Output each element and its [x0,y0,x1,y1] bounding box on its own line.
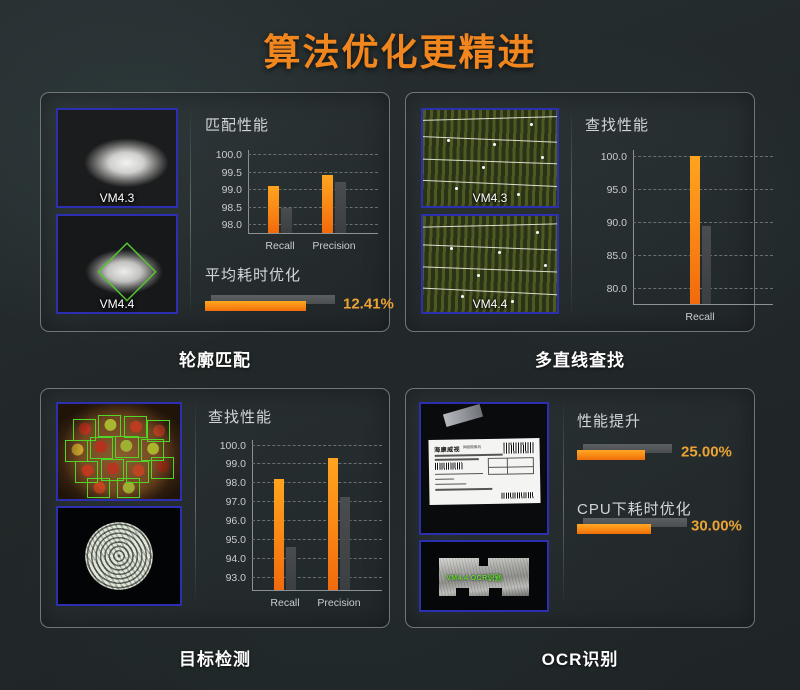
metric-label-cpu-time: CPU下耗时优化 [577,498,692,519]
gridline: 97.0 [252,501,382,502]
gridline: 100.0 [633,156,773,157]
y-tick-label: 97.0 [226,496,246,508]
column-divider [571,106,572,318]
y-axis [633,150,634,305]
y-tick-label: 94.0 [226,553,246,565]
caption-ocr-recognition: OCR识别 [405,645,755,670]
chart-title: 匹配性能 [205,114,269,135]
thumbnail-label: VM4.4 [423,297,557,311]
gridline: 93.0 [252,577,382,578]
thumbnail-vm44[interactable]: VM4.4 [56,506,182,606]
progress-fill [577,524,651,534]
gridline: 100.0 [252,445,382,446]
caption-multi-line-finding: 多直线查找 [405,346,755,371]
gridline: 99.0 [252,463,382,464]
metric-value-performance: 25.00% [681,444,732,461]
caption-contour-matching: 轮廓匹配 [40,346,390,371]
label-logo-text: 海康威视 [434,444,460,453]
progress-fill [577,450,645,460]
x-axis [252,590,382,591]
barcode-icon [434,462,463,470]
y-tick-label: 80.0 [607,283,627,295]
metal-bracket-image: VM4.4 OCR识别 [421,542,547,610]
metal-strip [443,404,483,427]
progress-avg-time [205,295,335,311]
x-tick-precision: Precision [317,597,360,609]
gridline: 95.0 [633,189,773,190]
y-tick-label: 100.0 [220,440,246,452]
metric-label-avg-time: 平均耗时优化 [205,264,301,285]
thumbnail-apples[interactable] [56,402,182,501]
progress-fill [205,301,306,311]
y-tick-label: 85.0 [607,250,627,262]
x-tick-recall: Recall [265,240,294,252]
bar-precision-old [340,497,350,590]
y-tick-label: 98.5 [222,202,242,214]
bar-recall-old [702,226,711,304]
y-tick-label: 99.5 [222,167,242,179]
gridline: 90.0 [633,222,773,223]
x-axis [633,304,773,305]
y-tick-label: 95.0 [607,184,627,196]
barcode-icon [501,492,534,499]
slide-page: 算法优化更精进 VM4.3 VM4.4 匹配性能 100.0 [0,0,800,690]
y-tick-label: 90.0 [607,217,627,229]
metric-label-performance: 性能提升 [577,410,641,431]
thumbnail-label: VM4.3 [58,191,176,205]
metric-value-cpu-time: 30.00% [691,518,742,535]
chart-title: 查找性能 [585,114,649,135]
y-tick-label: 100.0 [216,149,242,161]
x-tick-recall: Recall [685,311,714,323]
x-tick-precision: Precision [312,240,355,252]
y-tick-label: 93.0 [226,572,246,584]
y-tick-label: 100.0 [601,151,627,163]
thumbnail-vm44[interactable]: VM4.4 OCR识别 VM4.4 [419,540,549,612]
thumbnail-vm44[interactable]: VM4.4 [421,214,559,314]
progress-performance [577,444,672,460]
caption-object-detection: 目标检测 [40,645,390,670]
column-divider [190,106,191,318]
y-axis [248,150,249,234]
thumbnail-vm43[interactable]: VM4.3 [56,108,178,208]
bar-recall-new [268,186,279,233]
bar-precision-new [322,175,333,233]
product-label-image: 海康威视 网络摄像机 [421,404,547,533]
gridline: 99.5 [248,172,378,173]
thumbnail-vm43[interactable]: VM4.3 [421,108,559,208]
column-divider [563,400,564,606]
y-tick-label: 98.0 [222,219,242,231]
gridline: 98.0 [252,482,382,483]
ocr-overlay-text: VM4.4 OCR识别 [446,573,502,583]
bar-recall-new [690,156,700,304]
x-axis [248,233,378,234]
label-card: 海康威视 网络摄像机 [428,438,540,504]
panel-object-detection: VM4.4 查找性能 100.0 99.0 98.0 97.0 96.0 95.… [40,388,390,628]
barcode-icon [503,442,534,453]
chart-matching-performance: 100.0 99.5 99.0 98.5 98.0 Recall Precisi… [248,150,378,234]
y-tick-label: 99.0 [222,184,242,196]
bar-recall-old [281,208,292,233]
y-tick-label: 95.0 [226,534,246,546]
metric-value-avg-time: 12.41% [343,296,394,313]
y-tick-label: 96.0 [226,515,246,527]
bar-precision-old [335,182,346,233]
gridline: 94.0 [252,558,382,559]
bar-precision-new [328,458,338,590]
y-tick-label: 98.0 [226,477,246,489]
progress-cpu-time [577,518,682,534]
thumbnail-vm44[interactable]: VM4.4 [56,214,178,314]
label-table [487,457,534,475]
gridline: 100.0 [248,154,378,155]
y-tick-label: 99.0 [226,458,246,470]
gridline: 95.0 [252,539,382,540]
chart-title: 查找性能 [208,406,272,427]
chart-find-performance: 100.0 99.0 98.0 97.0 96.0 95.0 94.0 93.0… [252,440,382,591]
x-tick-recall: Recall [270,597,299,609]
thumbnail-label: VM4.3 [423,191,557,205]
apples-image [58,404,180,499]
bar-recall-new [274,479,284,590]
chart-find-performance: 100.0 95.0 90.0 85.0 80.0 Recall [633,150,773,305]
gridline: 96.0 [252,520,382,521]
panel-ocr-recognition: 海康威视 网络摄像机 [405,388,755,628]
page-title: 算法优化更精进 [0,22,800,76]
panel-contour-matching: VM4.3 VM4.4 匹配性能 100.0 99.5 99.0 98.5 9 [40,92,390,332]
speckled-disc-image [58,508,180,604]
label-sub-text: 网络摄像机 [462,445,480,450]
column-divider [195,400,196,606]
bar-recall-old [286,547,296,590]
panel-multi-line-finding: VM4.3 VM4.4 查找性能 [405,92,755,332]
thumbnail-ocr-label[interactable]: 海康威视 网络摄像机 [419,402,549,535]
thumbnail-label: VM4.4 [58,297,176,311]
